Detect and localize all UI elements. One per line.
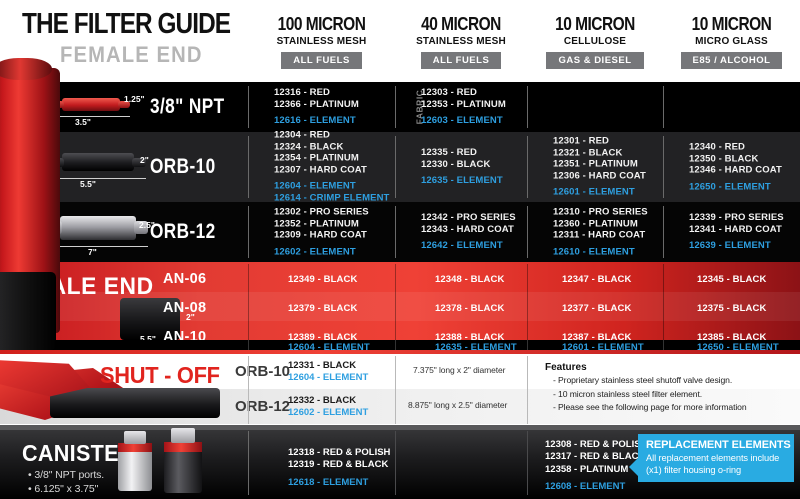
replacement-elements-callout: REPLACEMENT ELEMENTS All replacement ele… [638, 434, 794, 482]
element-part-number: 12642 - ELEMENT [421, 240, 516, 252]
cell-npt-40micron: FABRIC 12303 - RED 12353 - PLATINUM 1260… [395, 82, 527, 132]
canister-cell-left: 12318 - RED & POLISH 12319 - RED & BLACK… [288, 447, 390, 489]
part-number: 12303 - RED [421, 87, 506, 99]
row-label-npt: 3/8" NPT [150, 95, 225, 119]
column-divider [527, 431, 528, 495]
cell-orb10-100micron: 12304 - RED 12324 - BLACK 12354 - PLATIN… [248, 132, 395, 202]
element-part-number: 12610 - ELEMENT [553, 246, 648, 258]
part-number: 12301 - RED [553, 136, 646, 148]
female-end-section: 3.5" 1.25" 3/8" NPT 12316 - RED 12366 - … [0, 82, 800, 262]
cell-npt-100micron: 12316 - RED 12366 - PLATINUM 12616 - ELE… [248, 82, 395, 132]
shut-off-body-photo [50, 388, 220, 418]
column-micron-0: 100 MICRON [258, 14, 384, 35]
part-number: 12318 - RED & POLISH [288, 447, 390, 459]
element-part-number: 12608 - ELEMENT [545, 481, 647, 493]
dimension-diameter: 1.25" [124, 94, 145, 104]
section-divider-bar [0, 425, 800, 430]
part-number: 12353 - PLATINUM [421, 99, 506, 111]
part-number: 12354 - PLATINUM [274, 153, 389, 165]
part-number: 12343 - HARD COAT [421, 224, 516, 236]
column-divider [395, 431, 396, 495]
column-material-1: STAINLESS MESH [395, 36, 527, 47]
table-row-orb10: 5.5" 2" ORB-10 12304 - RED 12324 - BLACK… [0, 132, 800, 202]
element-part-number: 12639 - ELEMENT [689, 240, 784, 252]
part-number: 12341 - HARD COAT [689, 224, 784, 236]
filter-photo [62, 153, 134, 171]
hero-male-fitting-photo [0, 272, 56, 350]
cell-orb12-10micron-microglass: 12339 - PRO SERIES 12341 - HARD COAT 126… [663, 202, 800, 262]
page-header: THE FILTER GUIDE FEMALE END 100 MICRON S… [0, 0, 800, 82]
element-part-number: 12616 - ELEMENT [274, 115, 359, 127]
male-size-an06: AN-06 [163, 271, 206, 287]
shut-off-parts-orb12: 12332 - BLACK 12602 - ELEMENT [288, 395, 368, 419]
cell-npt-10micron-microglass [663, 82, 800, 132]
element-part-number: 12603 - ELEMENT [421, 115, 506, 127]
part-number: 12349 - BLACK [288, 274, 357, 285]
part-number: 12302 - PRO SERIES [274, 206, 369, 218]
table-row-npt: 3.5" 1.25" 3/8" NPT 12316 - RED 12366 - … [0, 82, 800, 132]
column-header-2: 10 MICRON CELLULOSE GAS & DIESEL [527, 14, 663, 69]
canister-photo-polish-bracket [124, 431, 146, 444]
column-header-1: 40 MICRON STAINLESS MESH ALL FUELS [395, 14, 527, 69]
shut-off-parts-orb10: 12331 - BLACK 12604 - ELEMENT [288, 360, 368, 384]
dimension-line-length [52, 116, 130, 117]
part-number: 12378 - BLACK [435, 303, 504, 314]
column-micron-2: 10 MICRON [537, 14, 654, 35]
cell-orb12-40micron: 12342 - PRO SERIES 12343 - HARD COAT 126… [395, 202, 527, 262]
column-divider [663, 264, 664, 348]
part-number: 12321 - BLACK [553, 147, 646, 159]
shut-off-size-orb10: ORB-10 [235, 363, 290, 380]
dimension-length: 7" [88, 247, 97, 257]
column-divider [395, 356, 396, 424]
part-number: 12308 - RED & POLISH [545, 439, 647, 451]
page-title: THE FILTER GUIDE [22, 8, 230, 41]
part-number: 12360 - PLATINUM [553, 218, 648, 230]
part-number: 12350 - BLACK [689, 153, 782, 165]
part-number: 12310 - PRO SERIES [553, 206, 648, 218]
part-number: 12307 - HARD COAT [274, 165, 389, 177]
part-number: 12319 - RED & BLACK [288, 459, 390, 471]
column-material-2: CELLULOSE [527, 36, 663, 47]
canister-photo-black-bracket [171, 428, 195, 443]
column-header-3: 10 MICRON MICRO GLASS E85 / ALCOHOL [663, 14, 800, 69]
canister-photo-black-cap [164, 442, 202, 452]
shut-off-section: SHUT - OFF ORB-10 ORB-12 12331 - BLACK 1… [0, 350, 800, 425]
filter-photo [60, 216, 136, 240]
part-number: 12342 - PRO SERIES [421, 212, 516, 224]
part-number: 12316 - RED [274, 87, 359, 99]
column-fuel-chip-2: GAS & DIESEL [546, 52, 643, 69]
dimension-line-length [48, 246, 148, 247]
male-end-section: MALE END 5.5" 2" AN-06 AN-08 AN-10 12349… [0, 262, 800, 350]
part-number: 12346 - HARD COAT [689, 165, 782, 177]
filter-guide-page: THE FILTER GUIDE FEMALE END 100 MICRON S… [0, 0, 800, 499]
canister-bullet-1: • 6.125" x 3.75" [28, 483, 98, 495]
dimension-length: 3.5" [75, 117, 91, 127]
element-part-number: 12602 - ELEMENT [288, 407, 368, 419]
column-fuel-chip-0: ALL FUELS [281, 52, 362, 69]
part-number: 12340 - RED [689, 141, 782, 153]
part-number: 12347 - BLACK [562, 274, 631, 285]
column-divider [527, 264, 528, 348]
column-divider [527, 356, 528, 424]
cell-orb10-40micron: 12335 - RED 12330 - BLACK 12635 - ELEMEN… [395, 132, 527, 202]
male-size-an08: AN-08 [163, 300, 206, 316]
element-part-number: 12650 - ELEMENT [689, 181, 782, 193]
part-number: 12366 - PLATINUM [274, 99, 359, 111]
cell-orb12-100micron: 12302 - PRO SERIES 12352 - PLATINUM 1230… [248, 202, 395, 262]
column-fuel-chip-1: ALL FUELS [421, 52, 502, 69]
part-number: 12330 - BLACK [421, 159, 503, 171]
canister-bullet-0: • 3/8" NPT ports. [28, 469, 104, 481]
column-header-0: 100 MICRON STAINLESS MESH ALL FUELS [248, 14, 395, 69]
feature-item: - 10 micron stainless steel filter eleme… [553, 389, 747, 401]
part-number: 12306 - HARD COAT [553, 170, 646, 182]
column-micron-3: 10 MICRON [673, 14, 791, 35]
filter-photo [62, 98, 120, 111]
features-title: Features [545, 362, 747, 373]
section-title-shut-off: SHUT - OFF [100, 362, 220, 389]
column-divider [248, 431, 249, 495]
column-divider [248, 264, 249, 348]
shut-off-dimensions-orb12: 8.875" long x 2.5" diameter [408, 400, 507, 410]
table-row-orb12: 7" 2.5" ORB-12 12302 - PRO SERIES 12352 … [0, 202, 800, 262]
column-divider [395, 264, 396, 348]
part-number: 12379 - BLACK [288, 303, 357, 314]
shut-off-size-orb12: ORB-12 [235, 398, 290, 415]
hero-canister-cap [0, 58, 52, 80]
part-number: 12345 - BLACK [697, 274, 766, 285]
part-number: 12324 - BLACK [274, 141, 389, 153]
column-material-3: MICRO GLASS [663, 36, 800, 47]
column-micron-1: 40 MICRON [404, 14, 518, 35]
part-number: 12352 - PLATINUM [274, 218, 369, 230]
element-part-number: 12604 - ELEMENT [288, 372, 368, 384]
dimension-line-length [50, 178, 146, 179]
part-number: 12348 - BLACK [435, 274, 504, 285]
part-number: 12311 - HARD COAT [553, 230, 648, 242]
element-part-number: 12635 - ELEMENT [421, 175, 503, 187]
part-number: 12339 - PRO SERIES [689, 212, 784, 224]
column-divider [248, 356, 249, 424]
element-part-number: 12618 - ELEMENT [288, 477, 390, 489]
feature-item: - Proprietary stainless steel shutoff va… [553, 375, 747, 387]
row-label-orb12: ORB-12 [150, 220, 216, 244]
cell-orb10-10micron-microglass: 12340 - RED 12350 - BLACK 12346 - HARD C… [663, 132, 800, 202]
canister-photo-polish [118, 447, 152, 491]
canister-photo-black [164, 447, 202, 493]
callout-body: All replacement elements include (x1) fi… [646, 453, 787, 476]
feature-item: - Please see the following page for more… [553, 402, 747, 414]
element-part-number: 12601 - ELEMENT [553, 187, 646, 199]
dimension-length: 5.5" [80, 179, 96, 189]
column-fuel-chip-3: E85 / ALCOHOL [681, 52, 783, 69]
column-material-0: STAINLESS MESH [248, 36, 395, 47]
row-label-orb10: ORB-10 [150, 155, 216, 179]
shut-off-dimensions-orb10: 7.375" long x 2" diameter [413, 365, 505, 375]
part-number: 12332 - BLACK [288, 395, 368, 407]
callout-title: REPLACEMENT ELEMENTS [646, 439, 787, 451]
part-number: 12309 - HARD COAT [274, 230, 369, 242]
section-subtitle-female-end: FEMALE END [60, 42, 203, 68]
cell-orb12-10micron-cellulose: 12310 - PRO SERIES 12360 - PLATINUM 1231… [527, 202, 663, 262]
part-number: 12335 - RED [421, 147, 503, 159]
features-block: Features - Proprietary stainless steel s… [545, 362, 747, 414]
canister-photo-polish-cap [118, 443, 152, 452]
part-number: 12304 - RED [274, 130, 389, 142]
cell-orb10-10micron-cellulose: 12301 - RED 12321 - BLACK 12351 - PLATIN… [527, 132, 663, 202]
part-number: 12331 - BLACK [288, 360, 368, 372]
part-number: 12375 - BLACK [697, 303, 766, 314]
element-part-number: 12602 - ELEMENT [274, 246, 369, 258]
cell-npt-10micron-cellulose [527, 82, 663, 132]
part-number: 12351 - PLATINUM [553, 159, 646, 171]
element-part-number: 12604 - ELEMENT [274, 181, 389, 193]
part-number: 12377 - BLACK [562, 303, 631, 314]
dimension-diameter: 2" [140, 155, 149, 165]
